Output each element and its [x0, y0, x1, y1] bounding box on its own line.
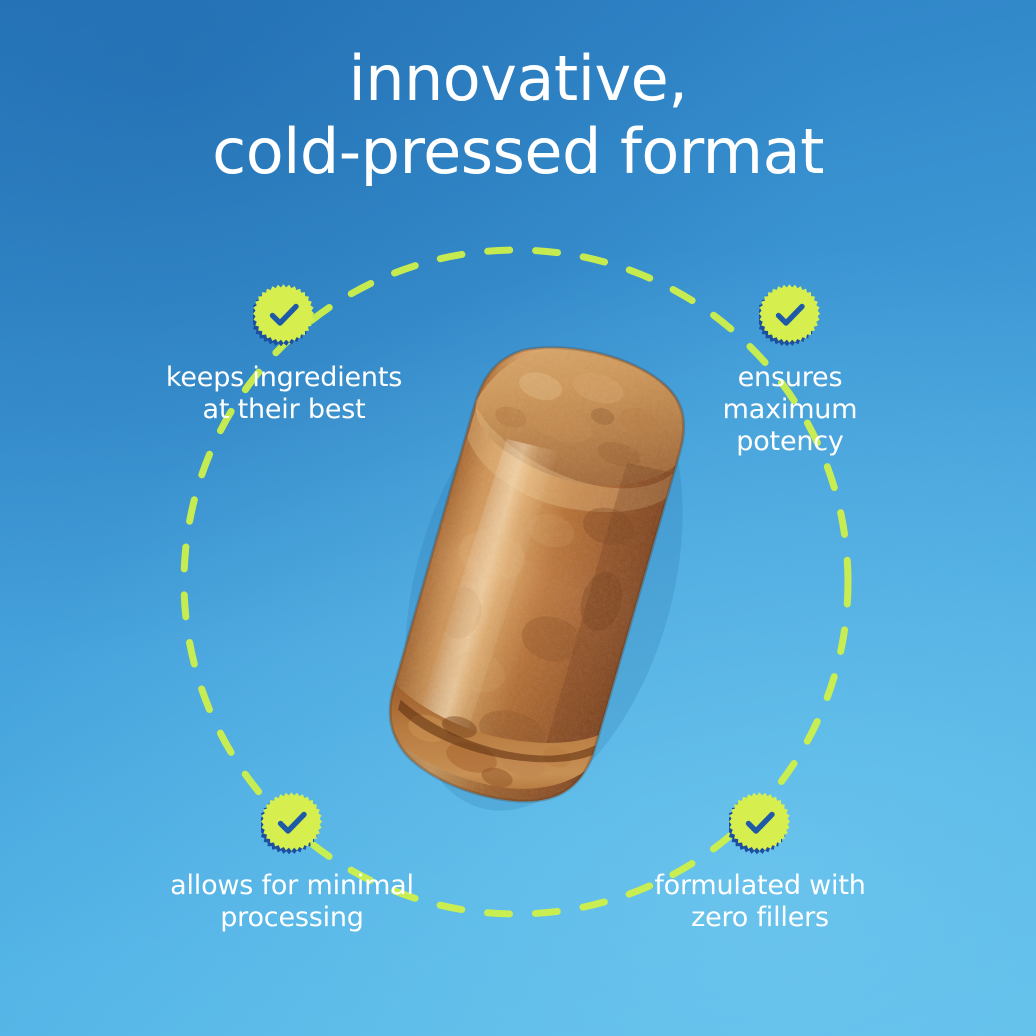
page-title: innovative, cold-pressed format [0, 42, 1036, 188]
feature-label: formulated with zero fillers [590, 870, 930, 934]
treat-bar-gloss [412, 434, 560, 752]
badge-starburst [261, 792, 322, 851]
check-badge-icon [253, 284, 315, 346]
feature-label: ensures maximum potency [640, 362, 940, 458]
check-badge-starburst-svg [253, 284, 315, 346]
feature-minimal-processing[interactable]: allows for minimal processing [112, 792, 472, 934]
badge-starburst [253, 284, 314, 343]
feature-zero-fillers[interactable]: formulated with zero fillers [590, 792, 930, 934]
headline-line-2: cold-pressed format [0, 115, 1036, 188]
headline-line-1: innovative, [0, 42, 1036, 115]
feature-keeps-ingredients[interactable]: keeps ingredients at their best [104, 284, 464, 426]
check-badge-icon [729, 792, 791, 854]
treat-bar-mottling [409, 471, 647, 770]
infographic-canvas: keeps ingredients at their best ensures … [0, 0, 1036, 1036]
badge-starburst [729, 792, 790, 851]
feature-label: allows for minimal processing [112, 870, 472, 934]
check-badge-icon [261, 792, 323, 854]
badge-starburst [759, 284, 820, 343]
check-badge-starburst-svg [261, 792, 323, 854]
check-badge-icon [759, 284, 821, 346]
check-badge-starburst-svg [759, 284, 821, 346]
feature-label: keeps ingredients at their best [104, 362, 464, 426]
treat-bar-bottom-end [371, 675, 601, 812]
check-badge-starburst-svg [729, 792, 791, 854]
treat-bar-bottom-crumbs [398, 704, 573, 805]
feature-maximum-potency[interactable]: ensures maximum potency [640, 284, 940, 458]
